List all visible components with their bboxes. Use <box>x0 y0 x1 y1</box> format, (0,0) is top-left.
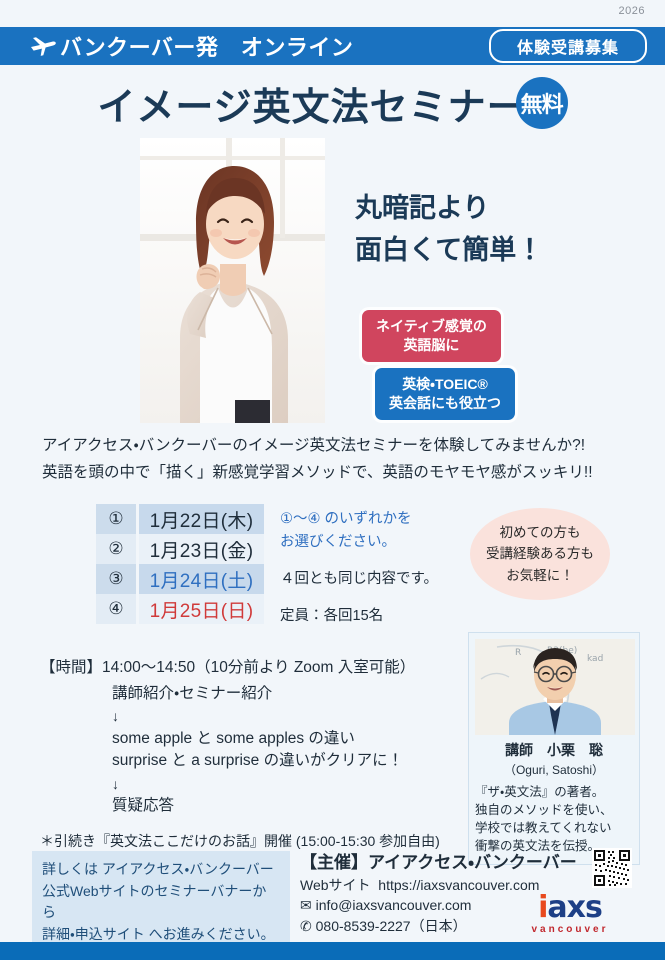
main-title-row: イメージ英文法セミナー 無料 <box>0 74 665 132</box>
year-label: 2026 <box>619 5 645 17</box>
footer-note: 詳しくは アイアクセス・バンクーバー 公式Webサイトのセミナーバナーから 詳細… <box>32 851 290 954</box>
schedule-section: 【時間】14:00〜14:50（10分前より Zoom 入室可能） 講師紹介・セ… <box>40 655 460 851</box>
website-line[interactable]: Webサイト https://iaxsvancouver.com <box>300 875 577 895</box>
date-number: ② <box>96 534 136 564</box>
date-value: 1月25日(日) <box>139 594 264 624</box>
note-choose-one: ①～④ のいずれかを お選びください。 <box>280 508 450 554</box>
bottom-bar <box>0 942 665 960</box>
tag-toeic: 英検・TOEIC® 英会話にも役立つ <box>375 368 515 420</box>
arrow-down-icon: ↓ <box>112 774 460 794</box>
arrow-down-icon: ↓ <box>112 706 460 726</box>
notes-block: ①～④ のいずれかを お選びください。 ４回とも同じ内容です。 定員：各回15名 <box>280 508 450 641</box>
svg-text:kad: kad <box>587 654 603 664</box>
date-number: ③ <box>96 564 136 594</box>
page-title: イメージ英文法セミナー <box>97 76 525 131</box>
host-line: 【主催】アイアクセス・バンクーバー <box>300 848 577 873</box>
header-band: バンクーバー発 オンライン 体験受講募集 <box>0 27 665 65</box>
table-row[interactable]: ① 1月22日(木) <box>96 504 264 534</box>
svg-text:R: R <box>515 648 521 658</box>
hero-headline: 丸暗記より 面白くて簡単！ <box>355 188 543 272</box>
lead-paragraph: アイアクセス・バンクーバーのイメージ英文法セミナーを体験してみませんか?! 英語… <box>42 432 642 486</box>
note-capacity: 定員：各回15名 <box>280 605 450 628</box>
schedule-step-4: 質疑応答 <box>112 795 460 817</box>
logo-letters-axs: axs <box>547 890 601 925</box>
hero-section: 丸暗記より 面白くて簡単！ ネイティブ感覚の 英語脳に 英検・TOEIC® 英会… <box>0 138 665 423</box>
schedule-step-1: 講師紹介・セミナー紹介 <box>112 683 460 705</box>
schedule-time: 【時間】14:00〜14:50（10分前より Zoom 入室可能） <box>40 655 460 677</box>
logo-subtitle: vancouver <box>510 925 630 935</box>
header-title: バンクーバー発 オンライン <box>60 30 353 62</box>
recruitment-badge: 体験受講募集 <box>489 29 647 63</box>
table-row[interactable]: ② 1月23日(金) <box>96 534 264 564</box>
flyer-page: 2026 バンクーバー発 オンライン 体験受講募集 イメージ英文法セミナー 無料 <box>0 0 665 960</box>
instructor-card: R R2(be) kad <box>468 632 640 865</box>
instructor-photo: R R2(be) kad <box>475 639 635 735</box>
schedule-step-3: surprise と a surprise の違いがクリアに！ <box>112 750 460 772</box>
date-table: ① 1月22日(木) ② 1月23日(金) ③ 1月24日(土) ④ 1月25日… <box>96 504 264 624</box>
date-value: 1月23日(金) <box>139 534 264 564</box>
qr-code-icon[interactable] <box>592 848 632 888</box>
tag-native-feel: ネイティブ感覚の 英語脳に <box>362 310 501 362</box>
date-value: 1月24日(土) <box>139 564 264 594</box>
note-same-content: ４回とも同じ内容です。 <box>280 568 450 591</box>
welcome-bubble: 初めての方も 受講経験ある方も お気軽に！ <box>470 508 610 600</box>
instructor-name: 講師 小栗 聡 <box>475 740 633 760</box>
iaxs-logo: iaxs vancouver <box>510 893 630 935</box>
free-badge: 無料 <box>516 77 568 129</box>
table-row[interactable]: ④ 1月25日(日) <box>96 594 264 624</box>
schedule-step-2: some apple と some apples の違い <box>112 728 460 750</box>
table-row[interactable]: ③ 1月24日(土) <box>96 564 264 594</box>
date-number: ④ <box>96 594 136 624</box>
date-value: 1月22日(木) <box>139 504 264 534</box>
hero-photo <box>140 138 325 423</box>
instructor-romaji: （Oguri, Satoshi） <box>475 761 633 778</box>
airplane-icon <box>30 36 56 56</box>
instructor-bio: 『ザ・英文法』の著者。 独自のメソッドを使い、 学校では教えてくれない 衝撃の英… <box>475 783 633 856</box>
schedule-steps: 講師紹介・セミナー紹介 ↓ some apple と some apples の… <box>112 683 460 817</box>
logo-wordmark: iaxs <box>510 893 630 923</box>
date-number: ① <box>96 504 136 534</box>
